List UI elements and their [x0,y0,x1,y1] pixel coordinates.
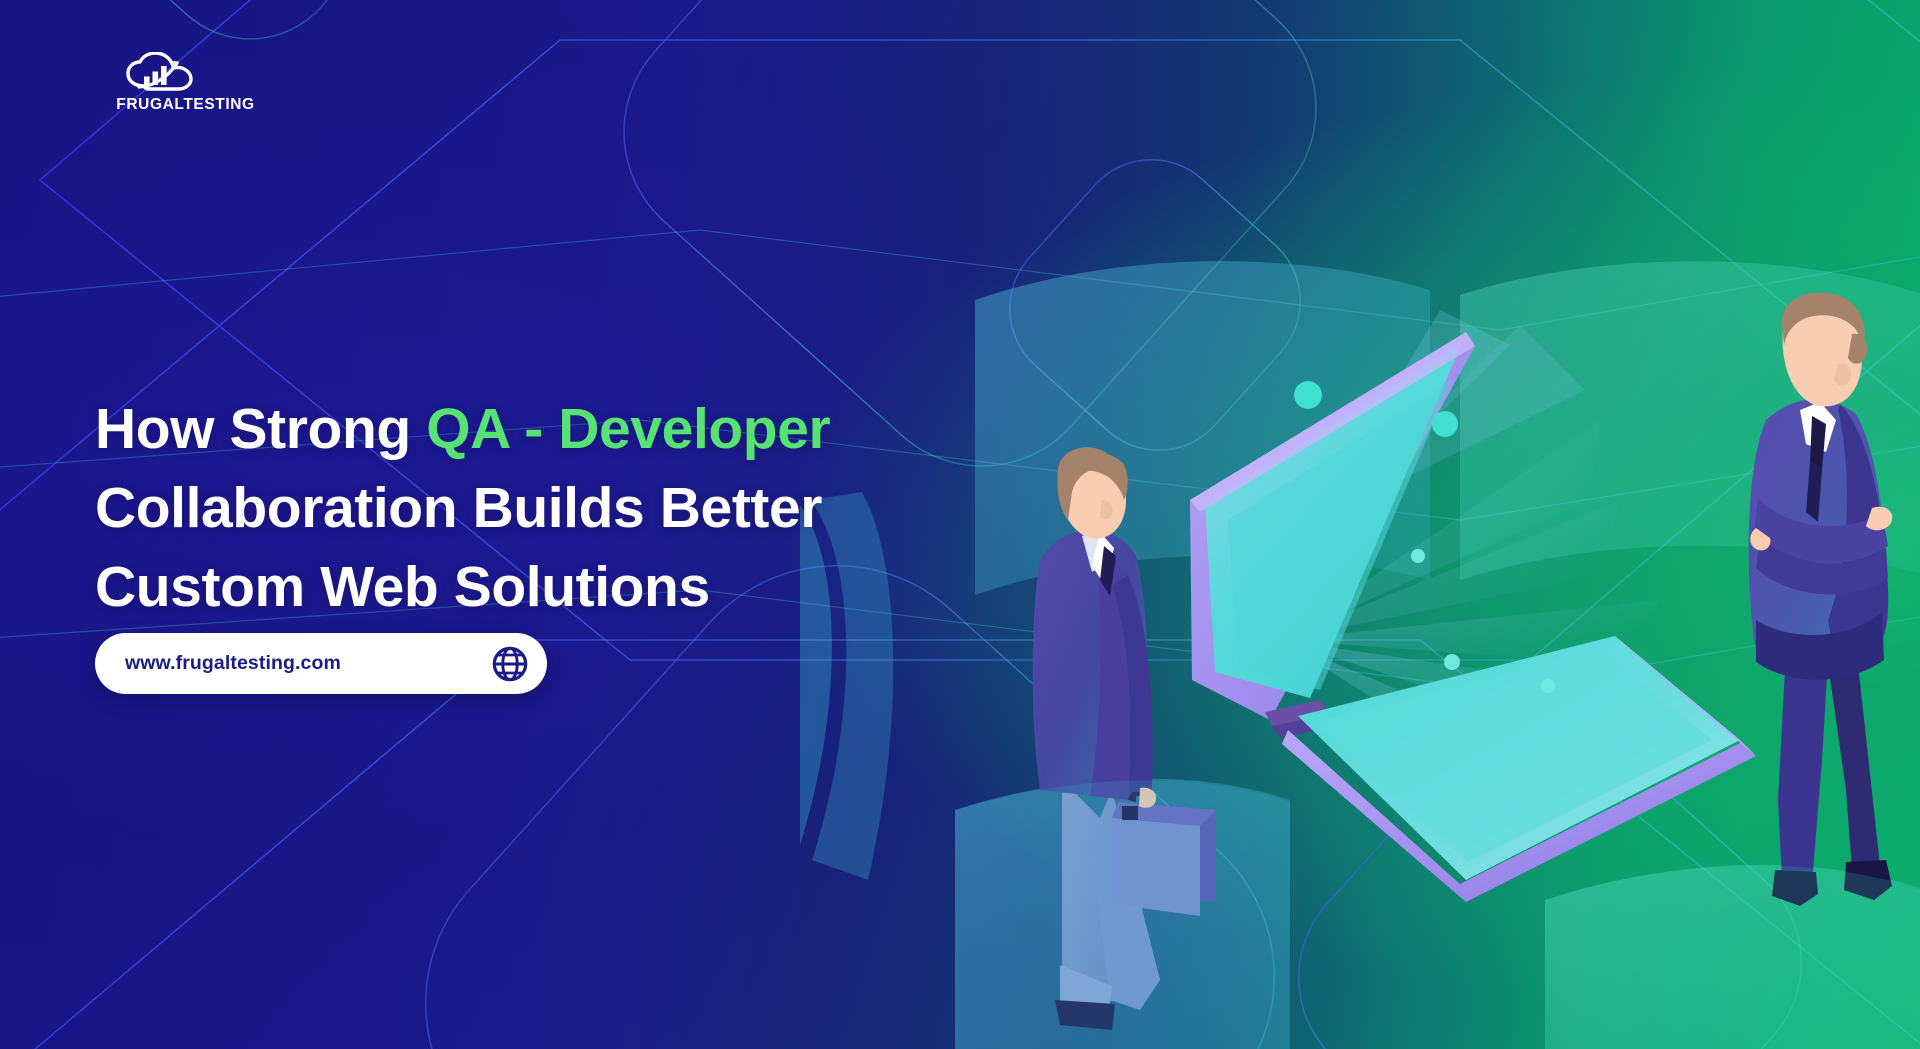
floating-dot [1294,381,1322,409]
page-title: How Strong QA - Developer Collaboration … [95,390,1095,627]
headline-line2: Collaboration Builds Better [95,476,822,540]
brand-wordmark: FRUGALTESTING [93,96,278,114]
floating-dot [1432,411,1458,437]
globe-icon [491,645,529,683]
website-url-button[interactable]: www.frugaltesting.com [95,633,547,694]
floating-dot [1541,679,1555,693]
floating-dot [1411,549,1425,563]
floating-dot [1444,654,1460,670]
cloud-bar-chart-icon [121,52,201,94]
headline-accent: QA - Developer [426,397,830,461]
brand-logo[interactable]: FRUGALTESTING [93,52,278,124]
headline-line3: Custom Web Solutions [95,555,710,619]
banner-canvas: FRUGALTESTING How Strong QA - Developer … [0,0,1920,1049]
headline-line1-lead: How Strong [95,397,426,461]
website-url-text: www.frugaltesting.com [125,652,491,675]
